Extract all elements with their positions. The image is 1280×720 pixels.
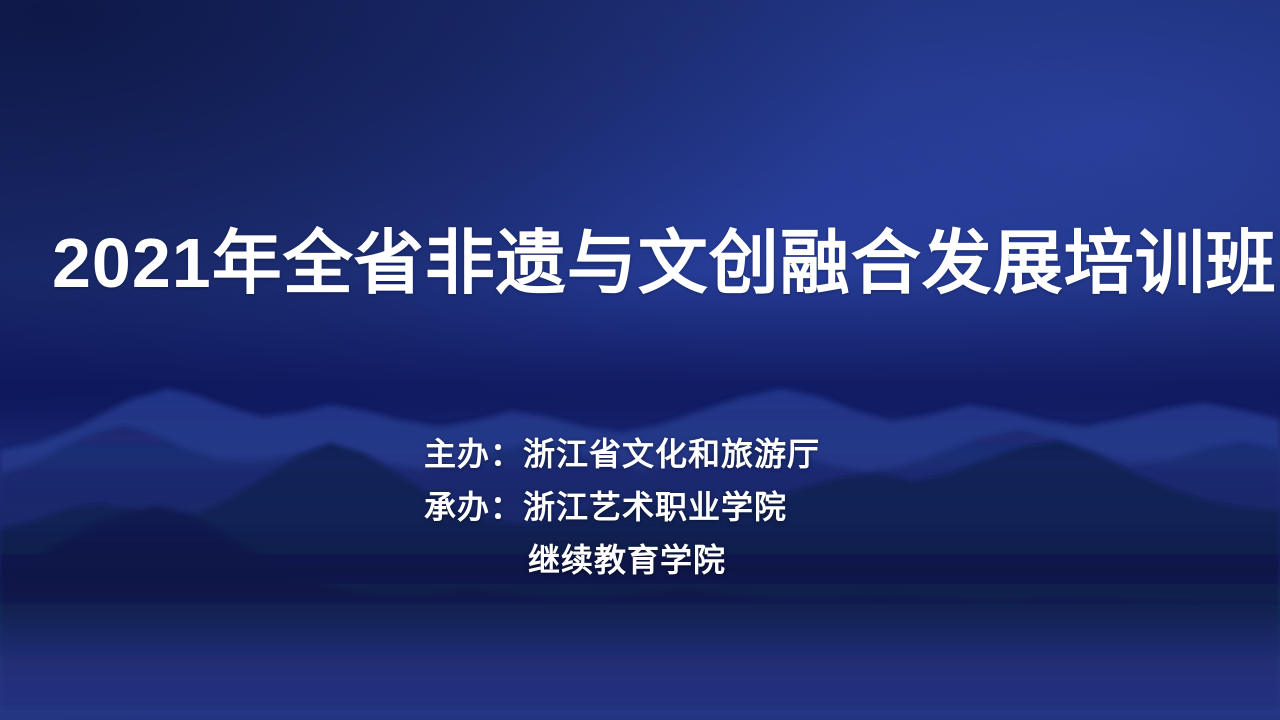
title-slide: 2021年全省非遗与文创融合发展培训班 主办：浙江省文化和旅游厅 承办：浙江艺术…: [0, 0, 1280, 720]
credit-line-department: 继续教育学院: [424, 534, 820, 587]
credit-line-organizer: 主办：浙江省文化和旅游厅: [424, 428, 820, 481]
credit-line-host: 承办：浙江艺术职业学院: [424, 481, 820, 534]
slide-title: 2021年全省非遗与文创融合发展培训班: [52, 228, 1232, 298]
slide-credits: 主办：浙江省文化和旅游厅 承办：浙江艺术职业学院 继续教育学院: [424, 428, 820, 587]
